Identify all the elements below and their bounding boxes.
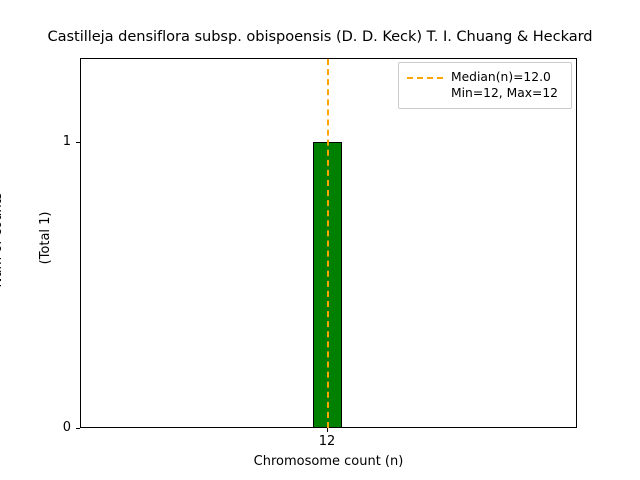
x-tick-label-12: 12 bbox=[319, 435, 336, 449]
legend: Median(n)=12.0 Min=12, Max=12 bbox=[398, 62, 572, 109]
legend-entry-text: Median(n)=12.0 Min=12, Max=12 bbox=[451, 69, 558, 101]
legend-median-label: Median(n)=12.0 bbox=[451, 69, 558, 85]
x-tick-mark-12 bbox=[327, 428, 328, 432]
chart-figure: Castilleja densiflora subsp. obispoensis… bbox=[0, 0, 640, 480]
chart-title: Castilleja densiflora subsp. obispoensis… bbox=[0, 28, 640, 45]
y-axis-label: Num of counts (Total 1) bbox=[0, 0, 44, 480]
y-tick-label-1: 1 bbox=[63, 135, 71, 148]
y-axis-label-wrapper: Num of counts (Total 1) bbox=[0, 0, 44, 480]
y-tick-label-0: 0 bbox=[63, 421, 71, 434]
median-line bbox=[327, 59, 329, 428]
legend-minmax-label: Min=12, Max=12 bbox=[451, 85, 558, 101]
y-tick-mark-0 bbox=[76, 428, 80, 429]
y-axis-label-line2: (Total 1) bbox=[38, 193, 54, 288]
y-axis-label-line1: Num of counts bbox=[0, 193, 6, 288]
x-axis-label: Chromosome count (n) bbox=[80, 454, 577, 469]
legend-median-line-icon bbox=[407, 71, 443, 86]
